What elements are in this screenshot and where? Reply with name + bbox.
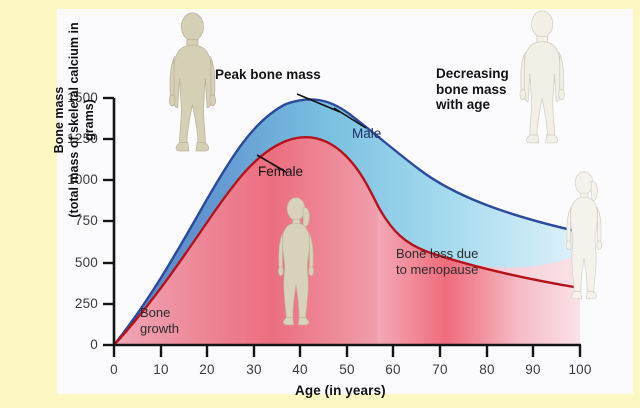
x-tick-label: 20 (187, 362, 227, 377)
y-tick-label: 0 (52, 337, 98, 352)
x-tick-label: 80 (467, 362, 507, 377)
x-tick-label: 60 (373, 362, 413, 377)
annotation-bone-loss-menopause: Bone loss due to menopause (396, 246, 478, 278)
chart-figure: 1500 1250 1000 750 500 250 0 0 10 20 30 … (0, 0, 640, 408)
young-adult-male-figure (169, 13, 215, 151)
y-tick-label: 500 (52, 255, 98, 270)
annotation-peak-bone-mass: Peak bone mass (215, 67, 321, 83)
x-tick-label: 90 (513, 362, 553, 377)
y-axis-title-line1: Bone mass (52, 0, 67, 240)
y-ticks (103, 98, 114, 345)
x-axis-title: Age (in years) (295, 383, 386, 398)
x-tick-label: 40 (280, 362, 320, 377)
x-tick-label: 50 (327, 362, 367, 377)
x-ticks (114, 345, 580, 357)
y-tick-label: 250 (52, 296, 98, 311)
x-tick-label: 70 (420, 362, 460, 377)
annotation-decreasing-bone-mass: Decreasing bone mass with age (436, 66, 509, 113)
annotation-male: Male (352, 126, 381, 141)
x-tick-label: 10 (141, 362, 181, 377)
x-tick-label: 0 (94, 362, 134, 377)
x-tick-label: 100 (560, 362, 600, 377)
annotation-bone-growth: Bone growth (140, 305, 179, 337)
x-tick-label: 30 (234, 362, 274, 377)
y-axis-title-line2: (total mass of skeletal calcium in grams… (67, 0, 97, 240)
y-axis-title: Bone mass (total mass of skeletal calciu… (52, 0, 92, 240)
annotation-female: Female (258, 164, 303, 179)
elderly-male-figure (520, 11, 564, 143)
